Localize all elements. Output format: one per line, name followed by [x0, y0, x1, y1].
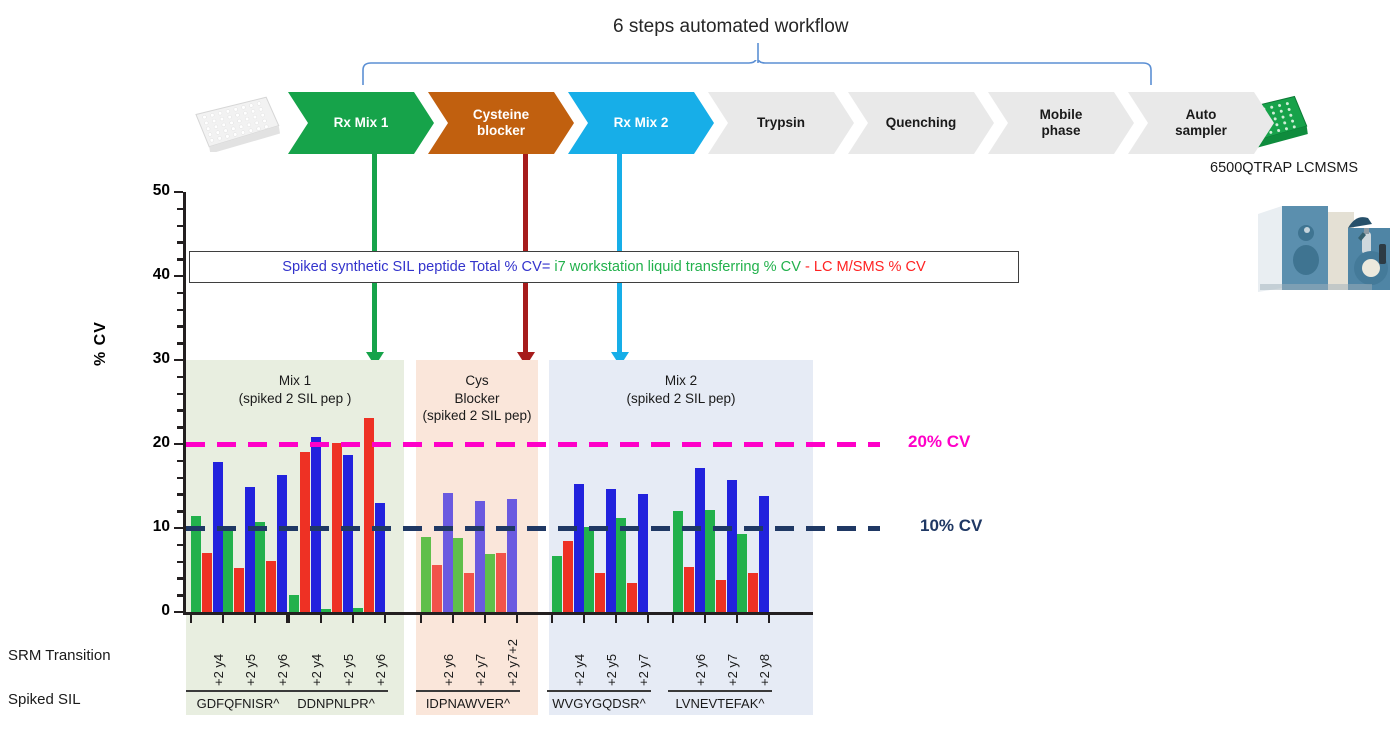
peptide-rule: [668, 690, 772, 692]
srm-transition-label: SRM Transition: [8, 647, 111, 664]
peptide-label: LVNEVTEFAK^: [646, 696, 794, 711]
spiked-sil-label: Spiked SIL: [8, 691, 81, 708]
peptide-rule: [547, 690, 651, 692]
peptide-label-layer: GDFQFNISR^DDNPNLPR^IDPNAWVER^WVGYGQDSR^L…: [0, 0, 1400, 749]
peptide-label: DDNPNLPR^: [262, 696, 410, 711]
peptide-rule: [186, 690, 290, 692]
peptide-label: IDPNAWVER^: [394, 696, 542, 711]
peptide-rule: [284, 690, 388, 692]
peptide-rule: [416, 690, 520, 692]
